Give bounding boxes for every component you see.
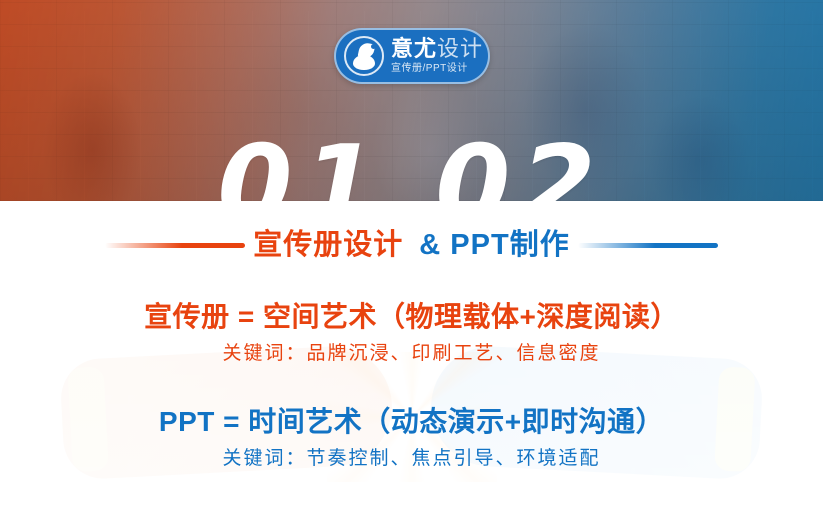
heading-orange-text: 宣传册设计 <box>245 230 411 262</box>
icon-dot <box>371 44 376 49</box>
heading-rule-right <box>578 243 718 248</box>
brand-name: 意尤设计 <box>391 38 483 60</box>
brand-logo-badge[interactable]: 意尤设计 宣传册/PPT设计 <box>334 28 490 84</box>
brand-name-thin: 设计 <box>437 36 483 61</box>
block-brochure: 宣传册 = 空间艺术（物理载体+深度阅读） 关键词：品牌沉浸、印刷工艺、信息密度 <box>0 300 823 365</box>
slide-canvas: 01 02 意尤设计 宣传册/PPT设计 宣传册设计 & PPT制作 <box>0 0 823 523</box>
ppt-statement: PPT = 时间艺术（动态演示+即时沟通） <box>0 405 823 439</box>
section-heading: 宣传册设计 & PPT制作 <box>0 230 823 262</box>
brand-logo-text: 意尤设计 宣传册/PPT设计 <box>391 38 483 74</box>
block-ppt: PPT = 时间艺术（动态演示+即时沟通） 关键词：节奏控制、焦点引导、环境适配 <box>0 405 823 470</box>
heading-blue-text: & PPT制作 <box>411 230 577 262</box>
brochure-keywords: 关键词：品牌沉浸、印刷工艺、信息密度 <box>0 343 823 366</box>
brochure-statement: 宣传册 = 空间艺术（物理载体+深度阅读） <box>0 300 823 334</box>
ppt-keywords: 关键词：节奏控制、焦点引导、环境适配 <box>0 448 823 471</box>
header-photo-band: 01 02 意尤设计 宣传册/PPT设计 <box>0 0 823 201</box>
content-area: 宣传册设计 & PPT制作 宣传册 = 空间艺术（物理载体+深度阅读） 关键词：… <box>0 201 823 523</box>
brand-tagline: 宣传册/PPT设计 <box>391 64 483 74</box>
brand-name-bold: 意尤 <box>391 36 437 61</box>
brush-bird-icon <box>344 36 384 76</box>
heading-rule-left <box>105 243 245 248</box>
section-number-watermark: 01 02 <box>0 132 823 201</box>
